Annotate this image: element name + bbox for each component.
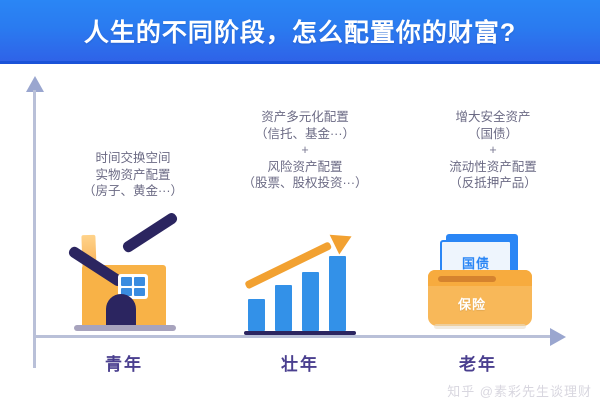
chart-bar — [275, 285, 292, 331]
text-line-plus: + — [215, 142, 395, 159]
column-text-youth: 时间交换空间 实物资产配置 （房子、黄金···） — [48, 150, 218, 200]
text-line: （信托、基金···） — [215, 126, 395, 143]
house-door-icon — [106, 294, 136, 327]
house-roof-right-icon — [121, 211, 179, 254]
page-header: 人生的不同阶段，怎么配置你的财富? — [0, 0, 600, 64]
text-line: 实物资产配置 — [48, 167, 218, 184]
house-ground-icon — [74, 325, 176, 331]
text-line-plus: + — [398, 142, 588, 159]
wallet-label: 保险 — [420, 294, 524, 313]
bar-chart-icon — [240, 232, 364, 337]
stage-label-prime: 壮年 — [240, 350, 360, 375]
house-icon — [62, 232, 186, 337]
wallet-card-label: 国债 — [462, 253, 490, 272]
chart-body: 时间交换空间 实物资产配置 （房子、黄金···） 资产多元化配置 （信托、基金·… — [0, 64, 600, 404]
wallet-slot-icon — [438, 276, 496, 282]
chart-baseline — [244, 331, 356, 335]
stage-label-senior: 老年 — [418, 350, 538, 375]
column-text-senior: 增大安全资产 （国债） + 流动性资产配置 （反抵押产品） — [398, 109, 588, 192]
x-axis-arrow-icon — [550, 328, 566, 346]
wallet-shadow-icon — [434, 324, 526, 329]
watermark: 知乎 @素彩先生谈理财 — [447, 381, 592, 400]
text-line: （股票、股权投资···） — [215, 175, 395, 192]
text-line: 资产多元化配置 — [215, 109, 395, 126]
text-line: （反抵押产品） — [398, 175, 588, 192]
text-line: 流动性资产配置 — [398, 159, 588, 176]
y-axis-line — [33, 90, 36, 368]
page-title: 人生的不同阶段，怎么配置你的财富? — [84, 13, 516, 49]
text-line: 时间交换空间 — [48, 150, 218, 167]
text-line: （房子、黄金···） — [48, 183, 218, 200]
window-pane — [134, 288, 145, 297]
text-line: 风险资产配置 — [215, 159, 395, 176]
chart-bar — [248, 299, 265, 331]
chart-bar — [329, 256, 346, 331]
chart-bar — [302, 272, 319, 331]
wallet-icon: 国债 保险 — [420, 232, 544, 337]
window-pane — [121, 277, 132, 286]
growth-arrow-icon — [244, 241, 332, 289]
text-line: （国债） — [398, 126, 588, 143]
window-pane — [134, 277, 145, 286]
stage-label-youth: 青年 — [64, 350, 184, 375]
text-line: 增大安全资产 — [398, 109, 588, 126]
column-text-prime: 资产多元化配置 （信托、基金···） + 风险资产配置 （股票、股权投资···） — [215, 109, 395, 192]
growth-arrow-head-icon — [330, 226, 357, 254]
